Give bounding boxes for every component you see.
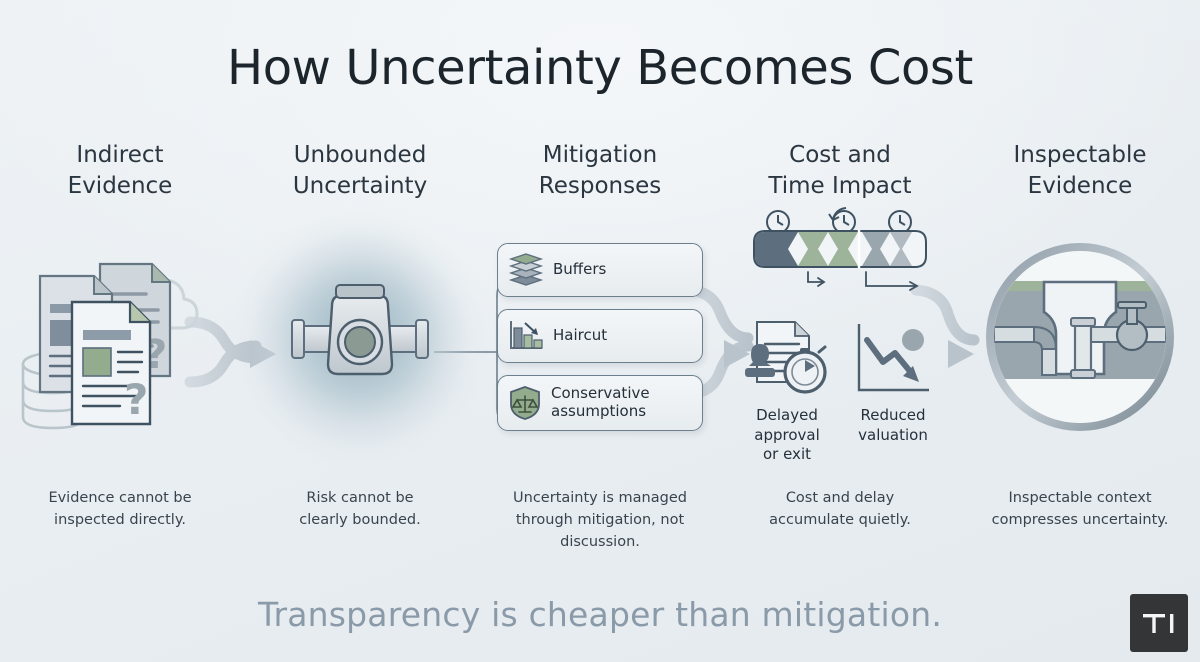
mitigation-card-conservative-assumptions[interactable]: Conservative assumptions [497, 375, 703, 431]
tagline: Transparency is cheaper than mitigation. [0, 595, 1200, 634]
shield-scales-icon [508, 385, 542, 421]
column-caption: Cost and delay accumulate quietly. [720, 488, 960, 532]
column-artwork [960, 212, 1200, 462]
mitigation-card-list: Buffers Haircut [497, 243, 703, 431]
mitigation-card-buffers[interactable]: Buffers [497, 243, 703, 297]
stacked-layers-icon [508, 253, 544, 287]
mitigation-card-label: Buffers [553, 261, 606, 279]
column-mitigation-responses: Mitigation Responses Buffers [480, 140, 720, 570]
lens-pipe-cross-section-icon [977, 234, 1183, 440]
column-artwork [240, 212, 480, 462]
clock-icon [767, 211, 789, 233]
impact-delayed-approval: Delayed approval or exit [737, 320, 837, 465]
document-stamp-stopwatch-icon [741, 320, 833, 402]
column-caption: Evidence cannot be inspected directly. [0, 488, 240, 532]
column-inspectable-evidence: Inspectable Evidence [960, 140, 1200, 570]
impact-row: Delayed approval or exit Reduced valuati… [720, 320, 960, 465]
mitigation-card-label: Haircut [553, 327, 607, 345]
impact-reduced-valuation: Reduced valuation [843, 320, 943, 465]
ti-monogram-icon [1141, 608, 1177, 638]
column-heading: Unbounded Uncertainty [293, 140, 427, 212]
columns-container: Indirect Evidence [0, 140, 1200, 570]
blurred-valve-icon [280, 272, 440, 402]
column-caption: Risk cannot be clearly bounded. [240, 488, 480, 532]
column-artwork: Delayed approval or exit Reduced valuati… [720, 212, 960, 462]
mitigation-card-haircut[interactable]: Haircut [497, 309, 703, 363]
column-cost-and-time-impact: Cost and Time Impact [720, 140, 960, 570]
column-unbounded-uncertainty: Unbounded Uncertainty [240, 140, 480, 570]
documents-question-database-cloud-icon: ? [10, 232, 230, 442]
column-artwork: Buffers Haircut [480, 212, 720, 462]
page-title: How Uncertainty Becomes Cost [0, 40, 1200, 96]
column-heading: Mitigation Responses [539, 140, 661, 212]
logo [1130, 594, 1188, 652]
column-heading: Cost and Time Impact [768, 140, 911, 212]
mitigation-card-label: Conservative assumptions [551, 385, 650, 420]
declining-bar-chart-icon [508, 319, 544, 353]
clock-icon [889, 211, 911, 233]
impact-label: Delayed approval or exit [754, 406, 820, 465]
column-indirect-evidence: Indirect Evidence [0, 140, 240, 570]
timeline-bar [754, 230, 926, 268]
column-artwork: ? [0, 212, 240, 462]
clock-rewind-icon [829, 208, 855, 233]
column-caption: Uncertainty is managed through mitigatio… [480, 488, 720, 553]
impact-label: Reduced valuation [858, 406, 928, 445]
svg-text:?: ? [124, 375, 148, 424]
column-heading: Inspectable Evidence [1014, 140, 1147, 212]
column-caption: Inspectable context compresses uncertain… [960, 488, 1200, 532]
declining-line-chart-icon [851, 320, 935, 402]
delay-timeline [740, 206, 940, 306]
column-heading: Indirect Evidence [68, 140, 173, 212]
